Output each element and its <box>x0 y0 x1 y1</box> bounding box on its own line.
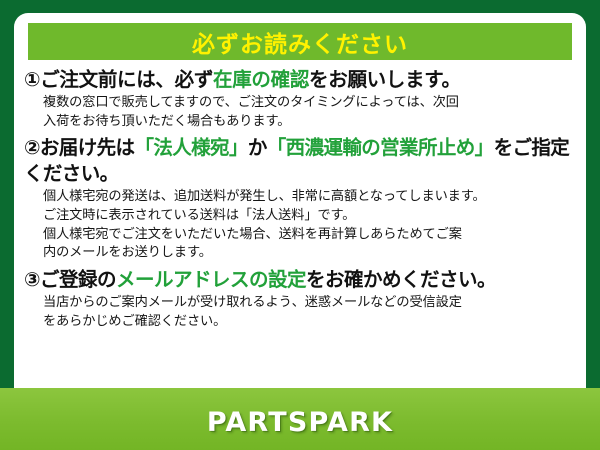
notice-item-3: ③ご登録のメールアドレスの設定をお確かめください。 当店からのご案内メールが受け… <box>24 267 576 331</box>
notice-item-2-heading-part-0: お届け先は <box>40 136 135 159</box>
notice-item-1-heading-part-0: ご注文前には、必ず <box>40 68 213 91</box>
notice-item-2-body: 個人様宅宛の発送は、追加送料が発生し、非常に高額となってしまいます。 ご注文時に… <box>24 188 576 263</box>
notice-item-3-number: ③ <box>24 268 40 291</box>
notice-item-3-body: 当店からのご案内メールが受け取れるよう、迷惑メールなどの受信設定 をあらかじめご… <box>24 294 576 331</box>
notice-item-1-heading: ①ご注文前には、必ず在庫の確認をお願いします。 <box>24 67 576 93</box>
notice-item-2-heading-highlight-depot: 「西濃運輸の営業所止め」 <box>267 136 494 159</box>
notice-item-1-number: ① <box>24 68 40 91</box>
notice-item-2-heading: ②お届け先は「法人様宛」か「西濃運輸の営業所止め」をご指定ください。 <box>24 135 576 187</box>
notice-item-list: ①ご注文前には、必ず在庫の確認をお願いします。 複数の窓口で販売してますので、ご… <box>14 60 586 332</box>
notice-item-2-heading-part-2: か <box>248 136 267 159</box>
notice-item-2-body-line-3: 内のメールをお送りします。 <box>43 244 576 263</box>
notice-item-1: ①ご注文前には、必ず在庫の確認をお願いします。 複数の窓口で販売してますので、ご… <box>24 67 576 131</box>
notice-banner: 必ずお読みください ①ご注文前には、必ず在庫の確認をお願いします。 複数の窓口で… <box>0 0 600 450</box>
notice-item-2-body-line-1: ご注文時に表示されている送料は「法人送料」です。 <box>43 207 576 226</box>
notice-item-3-body-line-1: をあらかじめご確認ください。 <box>43 313 576 332</box>
white-content-panel: 必ずお読みください ①ご注文前には、必ず在庫の確認をお願いします。 複数の窓口で… <box>14 13 586 411</box>
notice-item-2-number: ② <box>24 136 40 159</box>
notice-item-1-heading-highlight: 在庫の確認 <box>213 68 309 91</box>
brand-logo: PARTSPARK <box>207 407 393 438</box>
notice-item-1-body-line-1: 入荷をお待ち頂いただく場合もあります。 <box>43 113 576 132</box>
notice-item-3-heading-part-0: ご登録の <box>40 268 116 291</box>
notice-item-3-heading: ③ご登録のメールアドレスの設定をお確かめください。 <box>24 267 576 293</box>
page-title: 必ずお読みください <box>192 25 408 59</box>
notice-item-1-body-line-0: 複数の窓口で販売してますので、ご注文のタイミングによっては、次回 <box>43 94 576 113</box>
notice-item-2-body-line-2: 個人様宅宛でご注文をいただいた場合、送料を再計算しあらためてご案 <box>43 226 576 245</box>
notice-item-2: ②お届け先は「法人様宛」か「西濃運輸の営業所止め」をご指定ください。 個人様宅宛… <box>24 135 576 263</box>
notice-item-3-heading-highlight: メールアドレスの設定 <box>116 268 306 291</box>
notice-item-3-heading-part-2: をお確かめください。 <box>306 268 496 291</box>
notice-item-1-body: 複数の窓口で販売してますので、ご注文のタイミングによっては、次回 入荷をお待ち頂… <box>24 94 576 131</box>
notice-item-2-heading-highlight-corporate: 「法人様宛」 <box>134 136 247 159</box>
notice-item-3-body-line-0: 当店からのご案内メールが受け取れるよう、迷惑メールなどの受信設定 <box>43 294 576 313</box>
header-band: 必ずお読みください <box>28 23 572 60</box>
notice-item-2-body-line-0: 個人様宅宛の発送は、追加送料が発生し、非常に高額となってしまいます。 <box>43 188 576 207</box>
footer-band: PARTSPARK <box>0 388 600 450</box>
notice-item-1-heading-part-2: をお願いします。 <box>309 68 461 91</box>
